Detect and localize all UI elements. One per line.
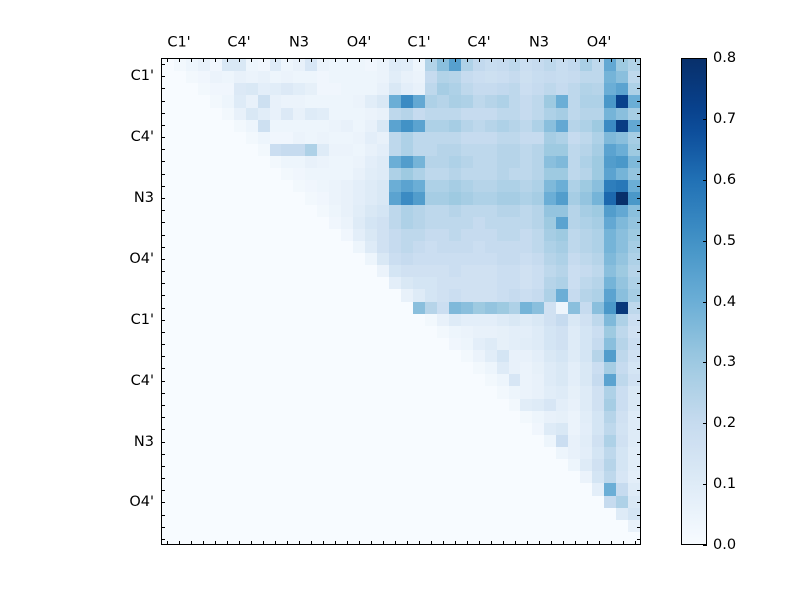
heatmap-cell bbox=[616, 192, 628, 204]
heatmap-cell bbox=[377, 302, 389, 314]
heatmap-cell bbox=[234, 386, 246, 398]
heatmap-cell bbox=[186, 205, 198, 217]
heatmap-cell bbox=[604, 205, 616, 217]
heatmap-cell bbox=[281, 314, 293, 326]
heatmap-cell bbox=[210, 241, 222, 253]
heatmap-cell bbox=[258, 241, 270, 253]
heatmap-cell bbox=[365, 180, 377, 192]
heatmap-cell bbox=[341, 205, 353, 217]
x-axis-tick bbox=[503, 58, 504, 62]
heatmap-cell bbox=[246, 108, 258, 120]
heatmap-cell bbox=[198, 205, 210, 217]
x-axis-tick bbox=[431, 58, 432, 62]
heatmap-cell bbox=[497, 168, 509, 180]
heatmap-cell bbox=[329, 229, 341, 241]
heatmap-cell bbox=[616, 496, 628, 508]
heatmap-cell bbox=[580, 120, 592, 132]
heatmap-cell bbox=[281, 132, 293, 144]
heatmap-cell bbox=[317, 229, 329, 241]
heatmap-cell bbox=[520, 411, 532, 423]
x-axis-tick bbox=[587, 541, 588, 545]
heatmap-cell bbox=[616, 289, 628, 301]
heatmap-cell bbox=[198, 471, 210, 483]
heatmap-cell bbox=[305, 386, 317, 398]
heatmap-cell bbox=[293, 156, 305, 168]
heatmap-cell bbox=[174, 471, 186, 483]
heatmap-cell bbox=[485, 289, 497, 301]
heatmap-cell bbox=[365, 205, 377, 217]
heatmap-cell bbox=[210, 144, 222, 156]
heatmap-cell bbox=[234, 120, 246, 132]
heatmap-cell bbox=[258, 277, 270, 289]
heatmap-cell bbox=[413, 520, 425, 532]
x-axis-tick bbox=[239, 541, 240, 545]
heatmap-cell bbox=[604, 435, 616, 447]
heatmap-cell bbox=[520, 144, 532, 156]
y-axis-tick bbox=[161, 393, 165, 394]
heatmap-cell bbox=[389, 386, 401, 398]
heatmap-cell bbox=[270, 83, 282, 95]
heatmap-cell bbox=[365, 277, 377, 289]
heatmap-cell bbox=[270, 180, 282, 192]
heatmap-cell bbox=[473, 423, 485, 435]
heatmap-cell bbox=[473, 362, 485, 374]
heatmap-cell bbox=[270, 277, 282, 289]
heatmap-cell bbox=[604, 302, 616, 314]
heatmap-cell bbox=[437, 241, 449, 253]
heatmap-cell bbox=[341, 411, 353, 423]
heatmap-cell bbox=[293, 192, 305, 204]
heatmap-cell bbox=[329, 217, 341, 229]
heatmap-cell bbox=[246, 326, 258, 338]
heatmap-cell bbox=[580, 132, 592, 144]
heatmap-cell bbox=[353, 423, 365, 435]
heatmap-cell bbox=[520, 253, 532, 265]
heatmap-cell bbox=[497, 277, 509, 289]
heatmap-cell bbox=[317, 399, 329, 411]
heatmap-cell bbox=[568, 180, 580, 192]
heatmap-cell bbox=[401, 168, 413, 180]
heatmap-cell bbox=[293, 314, 305, 326]
heatmap-cell bbox=[544, 459, 556, 471]
heatmap-cell bbox=[544, 386, 556, 398]
heatmap-cell bbox=[532, 265, 544, 277]
heatmap-cell bbox=[449, 496, 461, 508]
heatmap-cell bbox=[497, 83, 509, 95]
heatmap-cell bbox=[234, 483, 246, 495]
heatmap-cell bbox=[580, 314, 592, 326]
heatmap-cell bbox=[568, 229, 580, 241]
heatmap-cell bbox=[341, 399, 353, 411]
heatmap-cell bbox=[270, 459, 282, 471]
heatmap-cell bbox=[437, 156, 449, 168]
x-axis-tick bbox=[335, 58, 336, 62]
y-axis-tick bbox=[637, 381, 641, 382]
heatmap-cell bbox=[532, 217, 544, 229]
heatmap-cell bbox=[329, 289, 341, 301]
heatmap-cell bbox=[293, 435, 305, 447]
heatmap-cell bbox=[293, 374, 305, 386]
heatmap-axes[interactable] bbox=[161, 58, 641, 545]
heatmap-cell bbox=[234, 229, 246, 241]
heatmap-cell bbox=[580, 338, 592, 350]
heatmap-cell bbox=[281, 423, 293, 435]
heatmap-cell bbox=[341, 374, 353, 386]
heatmap-cell bbox=[258, 362, 270, 374]
heatmap-cell bbox=[329, 326, 341, 338]
heatmap-cell bbox=[365, 302, 377, 314]
heatmap-cell bbox=[568, 108, 580, 120]
x-axis-tick bbox=[215, 58, 216, 62]
heatmap-cell bbox=[520, 108, 532, 120]
heatmap-cell bbox=[210, 180, 222, 192]
heatmap-cell bbox=[413, 205, 425, 217]
heatmap-cell bbox=[532, 156, 544, 168]
heatmap-cell bbox=[544, 326, 556, 338]
y-axis-tick bbox=[637, 527, 641, 528]
heatmap-cell bbox=[210, 423, 222, 435]
heatmap-cell bbox=[293, 205, 305, 217]
heatmap-cell bbox=[293, 277, 305, 289]
heatmap-cell bbox=[353, 83, 365, 95]
heatmap-cell bbox=[532, 471, 544, 483]
heatmap-cell bbox=[317, 95, 329, 107]
heatmap-cell bbox=[425, 496, 437, 508]
colorbar-tick-label: 0.5 bbox=[713, 233, 736, 248]
heatmap-cell bbox=[604, 120, 616, 132]
colorbar-tick bbox=[703, 362, 707, 363]
heatmap-cell bbox=[616, 326, 628, 338]
heatmap-cell bbox=[425, 508, 437, 520]
heatmap-cell bbox=[281, 289, 293, 301]
heatmap-cell bbox=[568, 314, 580, 326]
x-axis-tick bbox=[419, 541, 420, 545]
heatmap-cell bbox=[353, 447, 365, 459]
heatmap-cell bbox=[246, 132, 258, 144]
x-axis-tick bbox=[203, 58, 204, 62]
heatmap-cell bbox=[473, 508, 485, 520]
heatmap-cell bbox=[341, 180, 353, 192]
y-axis-tick bbox=[637, 332, 641, 333]
heatmap-cell bbox=[520, 205, 532, 217]
heatmap-cell bbox=[616, 362, 628, 374]
y-axis-tick bbox=[637, 64, 641, 65]
y-axis-tick bbox=[161, 454, 165, 455]
heatmap-cell bbox=[305, 326, 317, 338]
heatmap-cell bbox=[616, 350, 628, 362]
heatmap-cell bbox=[377, 350, 389, 362]
heatmap-cell bbox=[317, 253, 329, 265]
heatmap-cell bbox=[293, 241, 305, 253]
heatmap-cell bbox=[437, 217, 449, 229]
heatmap-cell bbox=[270, 289, 282, 301]
x-axis-tick bbox=[179, 541, 180, 545]
heatmap-cell bbox=[317, 386, 329, 398]
heatmap-cell bbox=[485, 471, 497, 483]
heatmap-cell bbox=[281, 471, 293, 483]
heatmap-cell bbox=[293, 459, 305, 471]
x-axis-tick bbox=[371, 541, 372, 545]
heatmap-cell bbox=[520, 496, 532, 508]
heatmap-cell bbox=[473, 156, 485, 168]
heatmap-cell bbox=[520, 350, 532, 362]
heatmap-cell bbox=[509, 277, 521, 289]
heatmap-cell bbox=[532, 326, 544, 338]
heatmap-cell bbox=[281, 180, 293, 192]
heatmap-cell bbox=[520, 423, 532, 435]
heatmap-cell bbox=[401, 156, 413, 168]
heatmap-cell bbox=[341, 120, 353, 132]
heatmap-cell bbox=[401, 374, 413, 386]
heatmap-cell bbox=[413, 83, 425, 95]
heatmap-cell bbox=[520, 132, 532, 144]
heatmap-cell bbox=[461, 459, 473, 471]
heatmap-cell bbox=[580, 326, 592, 338]
heatmap-cell bbox=[497, 399, 509, 411]
heatmap-cell bbox=[616, 277, 628, 289]
heatmap-cell bbox=[377, 423, 389, 435]
heatmap-cell bbox=[437, 168, 449, 180]
heatmap-cell bbox=[604, 411, 616, 423]
heatmap-cell bbox=[413, 459, 425, 471]
x-axis-tick bbox=[563, 541, 564, 545]
heatmap-cell bbox=[425, 386, 437, 398]
heatmap-cell bbox=[497, 180, 509, 192]
heatmap-cell bbox=[544, 471, 556, 483]
heatmap-cell bbox=[401, 314, 413, 326]
heatmap-cell bbox=[520, 520, 532, 532]
heatmap-cell bbox=[377, 229, 389, 241]
heatmap-cell bbox=[485, 423, 497, 435]
heatmap-cell bbox=[270, 156, 282, 168]
heatmap-cell bbox=[604, 71, 616, 83]
heatmap-cell bbox=[353, 374, 365, 386]
heatmap-cell bbox=[556, 447, 568, 459]
heatmap-cell bbox=[604, 180, 616, 192]
heatmap-cell bbox=[222, 508, 234, 520]
heatmap-cell bbox=[592, 253, 604, 265]
colorbar-tick-label: 0.3 bbox=[713, 355, 736, 370]
heatmap-cell bbox=[497, 289, 509, 301]
heatmap-cell bbox=[186, 423, 198, 435]
heatmap-cell bbox=[222, 326, 234, 338]
heatmap-cell bbox=[485, 496, 497, 508]
heatmap-cell bbox=[210, 229, 222, 241]
heatmap-cell bbox=[532, 71, 544, 83]
heatmap-cell bbox=[580, 156, 592, 168]
heatmap-cell bbox=[329, 108, 341, 120]
heatmap-cell bbox=[222, 471, 234, 483]
heatmap-cell bbox=[329, 180, 341, 192]
heatmap-cell bbox=[365, 508, 377, 520]
heatmap-cell bbox=[353, 205, 365, 217]
heatmap-cell bbox=[365, 95, 377, 107]
heatmap-cell bbox=[389, 205, 401, 217]
heatmap-cell bbox=[580, 496, 592, 508]
heatmap-cell bbox=[258, 483, 270, 495]
heatmap-cell bbox=[473, 520, 485, 532]
heatmap-cell bbox=[258, 459, 270, 471]
heatmap-cell bbox=[186, 265, 198, 277]
heatmap-cell bbox=[532, 459, 544, 471]
y-axis-tick bbox=[161, 405, 165, 406]
colorbar-tick-label: 0.7 bbox=[713, 112, 736, 127]
heatmap-cell bbox=[568, 423, 580, 435]
heatmap-cell bbox=[413, 471, 425, 483]
heatmap-cell bbox=[568, 95, 580, 107]
heatmap-cell bbox=[222, 302, 234, 314]
y-axis-tick bbox=[161, 222, 165, 223]
heatmap-cell bbox=[353, 399, 365, 411]
x-axis-tick bbox=[491, 541, 492, 545]
heatmap-cell bbox=[485, 435, 497, 447]
heatmap-cell bbox=[174, 277, 186, 289]
heatmap-cell bbox=[449, 350, 461, 362]
heatmap-cell bbox=[341, 253, 353, 265]
y-axis-tick bbox=[161, 515, 165, 516]
heatmap-cell bbox=[329, 156, 341, 168]
heatmap-cell bbox=[329, 95, 341, 107]
heatmap-cell bbox=[556, 229, 568, 241]
heatmap-cell bbox=[293, 180, 305, 192]
heatmap-cell bbox=[485, 120, 497, 132]
heatmap-cell bbox=[353, 253, 365, 265]
heatmap-cell bbox=[234, 253, 246, 265]
heatmap-cell bbox=[329, 459, 341, 471]
y-axis-tick bbox=[161, 356, 165, 357]
heatmap-cell bbox=[246, 423, 258, 435]
heatmap-cell bbox=[222, 132, 234, 144]
heatmap-cell bbox=[329, 435, 341, 447]
heatmap-cell bbox=[437, 83, 449, 95]
heatmap-cell bbox=[604, 168, 616, 180]
heatmap-cell bbox=[580, 95, 592, 107]
heatmap-cell bbox=[305, 192, 317, 204]
x-axis-tick bbox=[383, 58, 384, 62]
heatmap-cell bbox=[401, 496, 413, 508]
y-axis-tick bbox=[161, 101, 165, 102]
heatmap-cell bbox=[305, 241, 317, 253]
heatmap-cell bbox=[281, 120, 293, 132]
heatmap-cell bbox=[485, 83, 497, 95]
y-axis-tick bbox=[161, 247, 165, 248]
heatmap-cell bbox=[198, 362, 210, 374]
heatmap-cell bbox=[258, 144, 270, 156]
heatmap-cell bbox=[329, 483, 341, 495]
y-axis-tick bbox=[637, 442, 641, 443]
colorbar-tick-label: 0.2 bbox=[713, 416, 736, 431]
heatmap-cell bbox=[473, 277, 485, 289]
heatmap-cell bbox=[329, 374, 341, 386]
heatmap-cell bbox=[353, 362, 365, 374]
heatmap-cell bbox=[293, 338, 305, 350]
heatmap-cell bbox=[473, 326, 485, 338]
heatmap-cell bbox=[473, 314, 485, 326]
heatmap-cell bbox=[210, 362, 222, 374]
heatmap-cell bbox=[341, 447, 353, 459]
heatmap-cell bbox=[293, 289, 305, 301]
heatmap-cell bbox=[509, 253, 521, 265]
heatmap-cell bbox=[198, 508, 210, 520]
heatmap-cell bbox=[234, 217, 246, 229]
heatmap-cell bbox=[449, 423, 461, 435]
heatmap-cell bbox=[473, 483, 485, 495]
heatmap-cell bbox=[317, 205, 329, 217]
heatmap-cell bbox=[604, 338, 616, 350]
heatmap-cell bbox=[281, 508, 293, 520]
heatmap-cell bbox=[305, 496, 317, 508]
heatmap-cell bbox=[329, 338, 341, 350]
heatmap-cell bbox=[353, 120, 365, 132]
x-axis-tick bbox=[299, 541, 300, 545]
y-axis-tick bbox=[637, 235, 641, 236]
heatmap-cell bbox=[437, 459, 449, 471]
heatmap-cell bbox=[222, 386, 234, 398]
heatmap-cell bbox=[234, 289, 246, 301]
heatmap-cell bbox=[556, 120, 568, 132]
heatmap-cell bbox=[568, 411, 580, 423]
heatmap-cell bbox=[449, 253, 461, 265]
heatmap-cell bbox=[329, 71, 341, 83]
heatmap-cell bbox=[198, 326, 210, 338]
heatmap-cell bbox=[616, 132, 628, 144]
heatmap-cell bbox=[509, 289, 521, 301]
heatmap-cell bbox=[425, 459, 437, 471]
heatmap-cell bbox=[461, 302, 473, 314]
heatmap-cell bbox=[497, 386, 509, 398]
heatmap-cell bbox=[210, 471, 222, 483]
heatmap-cell bbox=[281, 83, 293, 95]
y-axis-tick bbox=[637, 174, 641, 175]
heatmap-cell bbox=[497, 144, 509, 156]
heatmap-cell bbox=[317, 362, 329, 374]
heatmap-cell bbox=[174, 144, 186, 156]
heatmap-cell bbox=[580, 144, 592, 156]
heatmap-cell bbox=[222, 217, 234, 229]
heatmap-cell bbox=[485, 459, 497, 471]
heatmap-cell bbox=[353, 471, 365, 483]
heatmap-cell bbox=[520, 156, 532, 168]
heatmap-cell bbox=[532, 447, 544, 459]
heatmap-cell bbox=[425, 338, 437, 350]
heatmap-cell bbox=[401, 338, 413, 350]
heatmap-cell bbox=[568, 83, 580, 95]
heatmap-cell bbox=[186, 483, 198, 495]
x-axis-tick bbox=[479, 58, 480, 62]
colorbar-tick bbox=[703, 119, 707, 120]
heatmap-cell bbox=[592, 508, 604, 520]
heatmap-cell bbox=[461, 217, 473, 229]
heatmap-cell bbox=[532, 132, 544, 144]
heatmap-cell bbox=[520, 483, 532, 495]
heatmap-cell bbox=[449, 362, 461, 374]
heatmap-cell bbox=[234, 241, 246, 253]
heatmap-cell bbox=[616, 120, 628, 132]
y-axis-tick bbox=[637, 320, 641, 321]
heatmap-cell bbox=[592, 302, 604, 314]
heatmap-cell bbox=[246, 459, 258, 471]
heatmap-cell bbox=[485, 156, 497, 168]
heatmap-cell bbox=[270, 241, 282, 253]
heatmap-cell bbox=[258, 471, 270, 483]
heatmap-cell bbox=[341, 302, 353, 314]
heatmap-cell bbox=[461, 520, 473, 532]
heatmap-cell bbox=[389, 217, 401, 229]
heatmap-cell bbox=[305, 423, 317, 435]
heatmap-cell bbox=[580, 483, 592, 495]
x-tick-label: C4' bbox=[467, 36, 490, 51]
heatmap-cell bbox=[473, 132, 485, 144]
